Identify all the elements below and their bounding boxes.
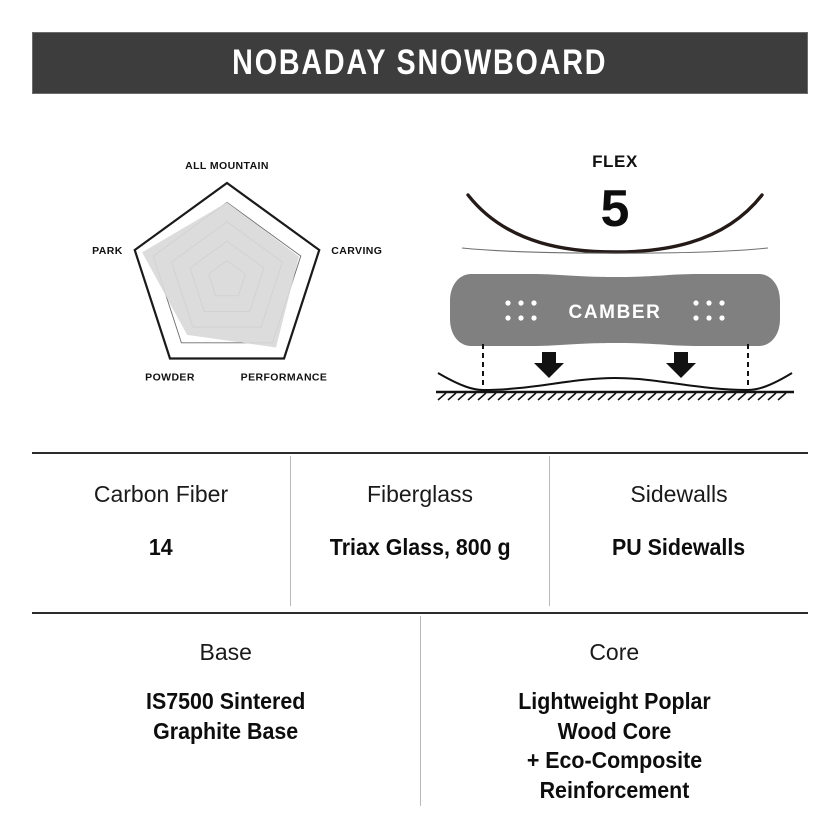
spec-label: Carbon Fiber	[94, 482, 228, 507]
graphics-band: ALL MOUNTAIN CARVING PERFORMANCE POWDER …	[32, 118, 808, 418]
pressure-arrow-right-icon	[666, 352, 696, 378]
title-banner: NOBADAY SNOWBOARD	[32, 32, 808, 94]
camber-profile-curve	[438, 373, 792, 390]
flex-camber-group: FLEX 5 CAMBER	[422, 138, 808, 408]
divider-middle	[32, 612, 808, 614]
spec-label: Base	[200, 640, 252, 665]
spec-value: IS7500 SinteredGraphite Base	[146, 687, 305, 746]
page-title: NOBADAY SNOWBOARD	[232, 43, 607, 83]
radar-label-carving: CARVING	[331, 245, 382, 257]
ground-hatching	[438, 393, 786, 400]
pressure-arrow-left-icon	[534, 352, 564, 378]
radar-label-all-mountain: ALL MOUNTAIN	[185, 160, 269, 172]
spec-label: Core	[589, 640, 639, 665]
spec-row-construction: Carbon Fiber 14 Fiberglass Triax Glass, …	[32, 456, 808, 606]
spec-cell-fiberglass: Fiberglass Triax Glass, 800 g	[290, 456, 549, 606]
spec-value: 14	[149, 533, 173, 562]
camber-label: CAMBER	[569, 302, 662, 323]
spec-card: NOBADAY SNOWBOARD ALL MOUNTAIN CARVING P…	[0, 0, 840, 840]
radar-chart: ALL MOUNTAIN CARVING PERFORMANCE POWDER …	[62, 140, 392, 400]
radar-label-performance: PERFORMANCE	[241, 372, 328, 384]
radar-label-powder: POWDER	[145, 372, 195, 384]
spec-label: Sidewalls	[630, 482, 727, 507]
divider-top	[32, 452, 808, 454]
spec-cell-core: Core Lightweight PoplarWood Core+ Eco-Co…	[420, 616, 809, 806]
radar-chart-svg: ALL MOUNTAIN CARVING PERFORMANCE POWDER …	[62, 140, 392, 400]
spec-cell-base: Base IS7500 SinteredGraphite Base	[32, 616, 420, 806]
spec-value: PU Sidewalls	[612, 533, 745, 562]
flex-label: FLEX	[592, 152, 638, 171]
flex-camber-svg: FLEX 5 CAMBER	[422, 138, 808, 408]
radar-label-park: PARK	[92, 245, 123, 257]
spec-value: Triax Glass, 800 g	[330, 533, 511, 562]
spec-value: Lightweight PoplarWood Core+ Eco-Composi…	[518, 687, 711, 805]
spec-label: Fiberglass	[367, 482, 473, 507]
spec-cell-sidewalls: Sidewalls PU Sidewalls	[549, 456, 808, 606]
spec-cell-carbon-fiber: Carbon Fiber 14	[32, 456, 290, 606]
radar-data-polygon	[142, 202, 299, 347]
spec-row-materials: Base IS7500 SinteredGraphite Base Core L…	[32, 616, 808, 806]
flex-value: 5	[601, 180, 630, 238]
